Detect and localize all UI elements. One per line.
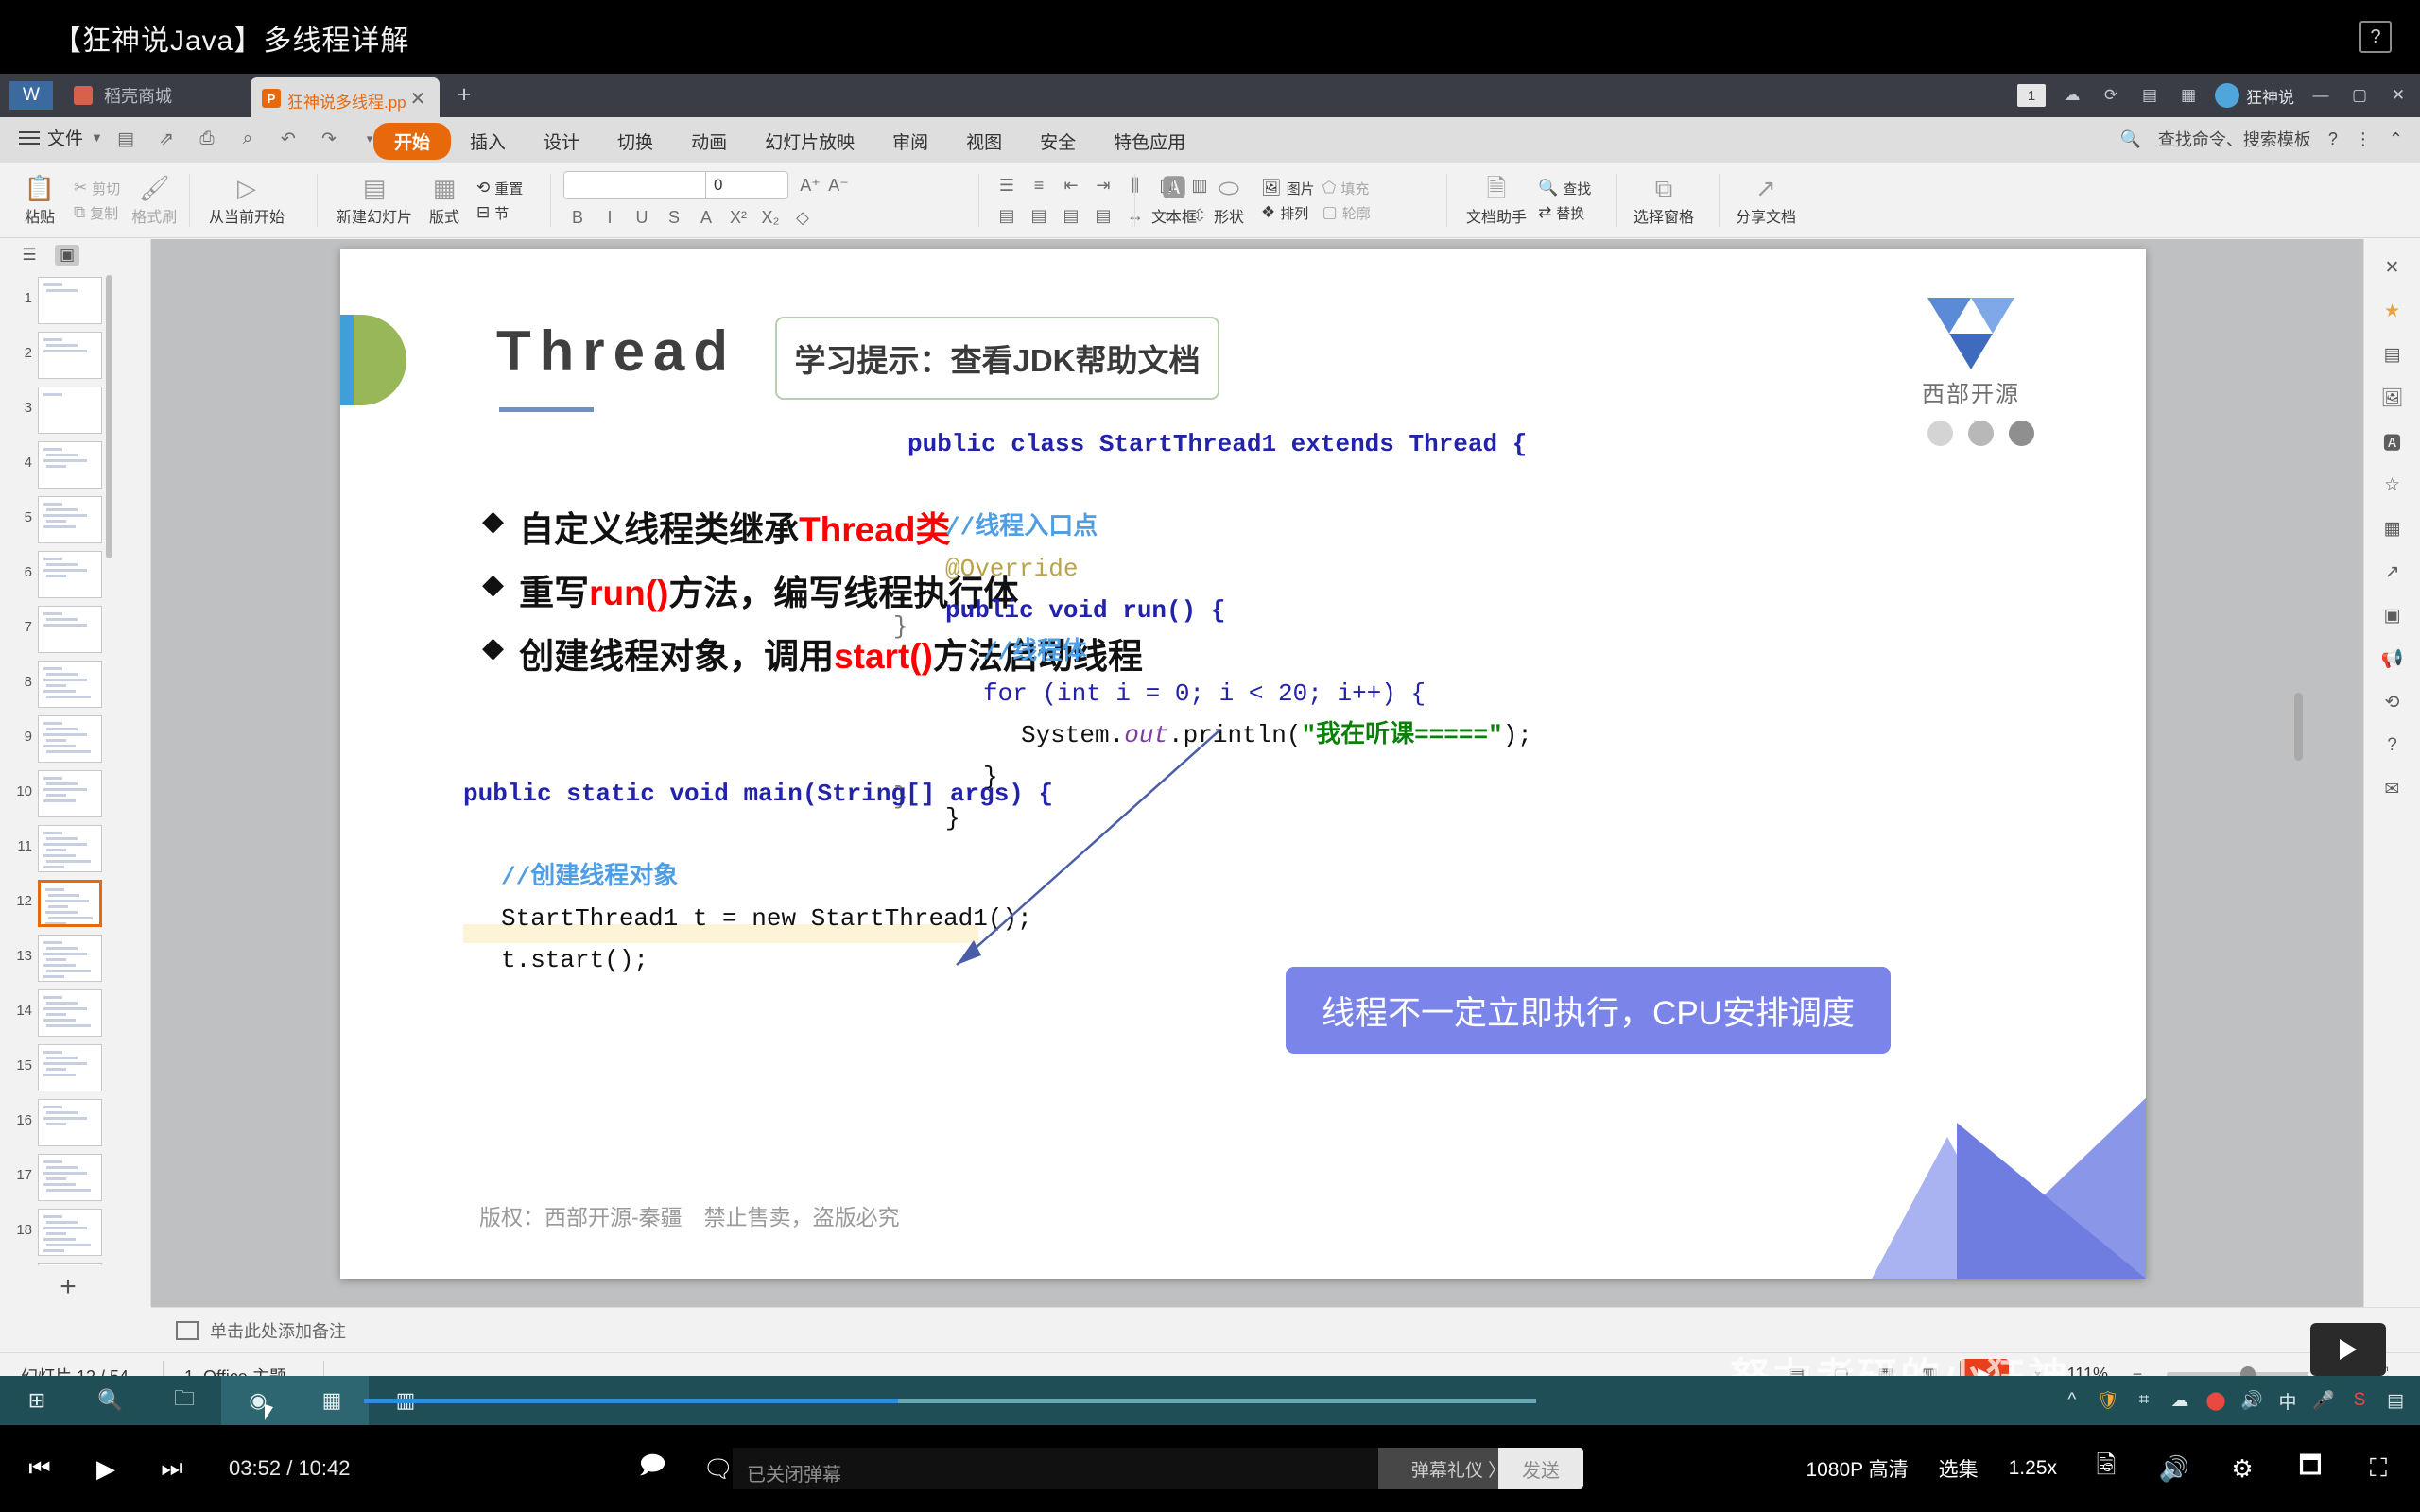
ribbon-group-tools: 🗎 文档助手 🔍 查找 ⇄ 替换	[1461, 163, 1591, 238]
gear-icon[interactable]: ⚙	[2223, 1450, 2261, 1487]
quality-selector[interactable]: 1080P 高清	[1806, 1454, 1908, 1483]
thumbnail-slide-5[interactable]: 5	[0, 492, 149, 547]
collapse-ribbon-icon[interactable]: ⌃	[2389, 129, 2403, 149]
video-title: 【狂神说Java】多线程详解	[53, 17, 409, 59]
mouse-cursor	[265, 1404, 273, 1420]
close-icon[interactable]: ✕	[406, 87, 429, 110]
thumbnail-preview	[38, 606, 102, 653]
subtitle-icon[interactable]: 🗟	[2087, 1450, 2125, 1487]
paste-icon: 📋	[25, 175, 55, 201]
hamburger-icon	[19, 130, 40, 146]
record-icon[interactable]: ⬤	[2204, 1390, 2227, 1412]
bullet-marker: ◆	[482, 564, 504, 606]
thumbnail-number: 11	[8, 838, 32, 854]
ribbon-tab-start[interactable]: 开始	[373, 123, 451, 160]
export-icon[interactable]: ↗	[2376, 557, 2410, 587]
thumbnail-number: 13	[8, 948, 32, 964]
ribbon-right-tools: 🔍 查找命令、搜索模板 ? ⋮ ⌃	[2119, 127, 2403, 151]
thumbnail-preview	[38, 989, 102, 1037]
numbered-list-icon[interactable]: ≡	[1025, 173, 1053, 198]
paste-button[interactable]: 📋 粘贴	[13, 175, 66, 227]
picture-icon: 🖼	[1261, 179, 1282, 198]
arrange-button[interactable]: ❖ 排列	[1261, 203, 1315, 223]
ribbon-group-drawing: 🅰 文本框 ⬭ 形状 🖼 图片 ❖ 排列 ⬠ 填充	[1146, 163, 1371, 238]
episodes-button[interactable]: 选集	[1939, 1454, 1979, 1483]
share-doc-label: 分享文档	[1736, 204, 1796, 227]
thumbnail-slide-4[interactable]: 4	[0, 438, 149, 492]
powerpoint-icon: P	[262, 89, 281, 108]
cut-button[interactable]: ✂ 剪切	[74, 179, 120, 198]
danmu-toggle-icon[interactable]: 🗩	[633, 1450, 671, 1487]
ribbon-tab-animation[interactable]: 动画	[672, 123, 746, 160]
thumbnail-number: 5	[8, 509, 32, 525]
star-icon[interactable]: ★	[2376, 296, 2410, 326]
thumbnail-preview	[38, 496, 102, 543]
outline-view-icon[interactable]: ☰	[17, 245, 42, 266]
fill-button[interactable]: ⬠ 填充	[1322, 179, 1371, 198]
ribbon-tab-view[interactable]: 视图	[947, 123, 1021, 160]
next-icon[interactable]: ⏭	[153, 1450, 191, 1487]
tab-right-tools: 1 ☁ ⟳ ▤ ▦ 狂神说 — ▢ ✕	[2017, 74, 2411, 117]
thumbnail-number: 12	[8, 893, 32, 909]
canvas-scrollbar[interactable]	[2294, 693, 2303, 761]
thumbnail-slide-7[interactable]: 7	[0, 602, 149, 657]
align-right-icon[interactable]: ▤	[1057, 203, 1085, 228]
align-center-icon[interactable]: ▤	[1025, 203, 1053, 228]
thumbnail-slide-19[interactable]: 19	[0, 1260, 149, 1265]
decorative-dots	[1927, 421, 2034, 446]
total-time: 10:42	[298, 1456, 350, 1480]
bullet-2-highlight: run()	[589, 574, 668, 612]
shield-icon[interactable]: 🛡	[2097, 1389, 2119, 1412]
bullet-1-text: 自定义线程类继承	[519, 510, 799, 549]
format-painter-icon: 🖌	[139, 175, 170, 201]
format-painter-label: 格式刷	[131, 204, 177, 227]
code-println-prefix: System.	[1021, 721, 1124, 749]
textbox-button[interactable]: 🅰 文本框	[1146, 175, 1202, 227]
ribbon-tab-transitions[interactable]: 切换	[598, 123, 672, 160]
folder-icon[interactable]: 🗀	[147, 1376, 221, 1425]
copy-button[interactable]: ⧉ 复制	[74, 203, 120, 223]
thumbnail-slide-18[interactable]: 18	[0, 1205, 149, 1260]
maximize-icon[interactable]: ▢	[2347, 84, 2372, 107]
align-left-icon[interactable]: ▤	[993, 203, 1021, 228]
windows-taskbar: ⊞ 🔍 🗀 ◉ ▦ ▥ ^ 🛡 ⌗ ☁ ⬤ 🔊 中 🎤 S ▤	[0, 1376, 2420, 1425]
new-slide-icon: ▤	[363, 175, 387, 201]
minimize-icon[interactable]: —	[2308, 84, 2333, 107]
underline-button[interactable]: U	[628, 205, 656, 230]
scissors-icon: ✂	[74, 179, 87, 198]
template-icon[interactable]: ▤	[2376, 339, 2410, 369]
video-control-bar: ⏮ ▶ ⏭ 03:52 / 10:42 🗩 🗨 已关闭弹幕 弹幕礼仪 〉 发送 …	[0, 1425, 2420, 1512]
font-size-input[interactable]: 0	[705, 171, 788, 199]
notes-placeholder: 单击此处添加备注	[210, 1318, 346, 1343]
tab-docer-shop[interactable]: 稻壳商城	[57, 74, 246, 117]
notification-icon[interactable]: ▤	[2384, 1390, 2407, 1412]
slide-footer: 版权：西部开源-秦疆 禁止售卖，盗版必究	[479, 1199, 900, 1231]
play-icon[interactable]: ▶	[87, 1450, 125, 1487]
outline-label: 轮廓	[1342, 203, 1371, 223]
thumbnail-scrollbar[interactable]	[106, 275, 112, 558]
find-button[interactable]: 🔍 查找	[1538, 179, 1591, 198]
thumbnail-number: 2	[8, 345, 32, 361]
thumbnail-slide-6[interactable]: 6	[0, 547, 149, 602]
reset-button[interactable]: ⟲ 重置	[476, 179, 523, 198]
thumbnail-slide-9[interactable]: 9	[0, 712, 149, 766]
code-println-out: out	[1124, 721, 1168, 749]
danmu-placeholder: 已关闭弹幕	[747, 1459, 841, 1486]
video-title-bar: 【狂神说Java】多线程详解 ?	[0, 0, 2420, 74]
code-main-new: StartThread1 t = new StartThread1();	[501, 904, 1032, 933]
logo-mark-icon	[1927, 298, 2014, 369]
add-slide-button[interactable]: +	[49, 1271, 87, 1303]
textbox-label: 文本框	[1151, 204, 1197, 227]
thumbnail-number: 17	[8, 1167, 32, 1183]
code-annotation: @Override	[945, 555, 1078, 583]
playback-speed[interactable]: 1.25x	[2009, 1457, 2057, 1480]
thumbnail-number: 7	[8, 619, 32, 635]
cloud-save-icon[interactable]: ⇗	[154, 127, 179, 151]
image-icon[interactable]: ▣	[2376, 600, 2410, 630]
thumbnail-slide-13[interactable]: 13	[0, 931, 149, 986]
file-menu-button[interactable]: 文件 ▼	[19, 125, 103, 150]
doc-assistant-button[interactable]: 🗎 文档助手	[1461, 175, 1532, 227]
bullet-2-text-a: 重写	[519, 574, 589, 612]
slide-thumbnail-pane: ☰ ▣ 12345678910111213141516171819 +	[0, 239, 151, 1307]
arrange-icon: ❖	[1261, 203, 1275, 222]
thumbnail-slide-2[interactable]: 2	[0, 328, 149, 383]
select-pane-icon: ⧉	[1655, 175, 1673, 201]
format-painter-button[interactable]: 🖌 格式刷	[126, 175, 182, 227]
thumbnail-number: 6	[8, 564, 32, 580]
slide-canvas-area: Thread 学习提示：查看JDK帮助文档 西部开源	[151, 239, 2363, 1307]
cut-label: 剪切	[92, 179, 120, 198]
volume-icon[interactable]: 🔊	[2155, 1450, 2193, 1487]
code-run-decl: public void run() {	[945, 596, 1225, 625]
picture-button[interactable]: 🖼 图片	[1261, 179, 1315, 198]
thumbnail-preview	[38, 1154, 102, 1201]
ribbon-group-font: 0 A⁺ A⁻ B I U S A X² X₂ ◇	[563, 163, 853, 238]
chevron-down-icon: ▼	[91, 130, 103, 145]
title-blue-bar	[340, 315, 354, 405]
hint-box-text: 学习提示：查看JDK帮助文档	[794, 335, 1200, 381]
chrome-icon[interactable]: ◉	[221, 1376, 295, 1425]
paste-label: 粘贴	[25, 204, 55, 227]
find-label: 查找	[1563, 179, 1591, 198]
thumbnail-number: 1	[8, 290, 32, 306]
shape-button[interactable]: ⬭ 形状	[1202, 175, 1255, 227]
slide-title: Thread	[496, 318, 736, 384]
start-from-current-label: 从当前开始	[209, 204, 285, 227]
reset-label: 重置	[494, 179, 523, 198]
more-icon[interactable]: ⋮	[2355, 129, 2372, 149]
time-separator: /	[286, 1456, 292, 1480]
thumbnail-list[interactable]: 12345678910111213141516171819	[0, 273, 149, 1265]
thumbnail-slide-15[interactable]: 15	[0, 1040, 149, 1095]
new-slide-label: 新建幻灯片	[337, 204, 412, 227]
title-green-semicircle	[354, 315, 406, 405]
bookmark-icon[interactable]: ▤	[2137, 84, 2162, 107]
thumbnail-slide-17[interactable]: 17	[0, 1150, 149, 1205]
thumbnail-preview	[38, 387, 102, 434]
thumbnail-number: 4	[8, 455, 32, 471]
textbox-icon: 🅰	[1162, 175, 1186, 201]
ribbon-tab-design[interactable]: 设计	[525, 123, 598, 160]
italic-button[interactable]: I	[596, 205, 624, 230]
code-comment-entry: //线程入口点	[945, 513, 1098, 541]
decrease-indent-icon[interactable]: ⇤	[1057, 173, 1085, 198]
subscript-button[interactable]: X₂	[756, 205, 785, 230]
font-color-button[interactable]: A	[692, 205, 720, 230]
danmu-settings-icon[interactable]: 🗨	[700, 1450, 737, 1487]
doc-assistant-label: 文档助手	[1466, 204, 1527, 227]
video-playback-controls: ⏮ ▶ ⏭ 03:52 / 10:42	[21, 1425, 351, 1512]
copy-icon: ⧉	[74, 203, 85, 222]
justify-icon[interactable]: ▤	[1089, 203, 1117, 228]
picture-library-icon[interactable]: 🖼	[2376, 383, 2410, 413]
history-icon[interactable]: ⟲	[2376, 687, 2410, 717]
decrease-font-size-icon[interactable]: A⁻	[824, 173, 853, 198]
ime-icon[interactable]: S	[2348, 1390, 2371, 1411]
save-icon[interactable]: ▤	[113, 127, 138, 151]
thumbnail-slide-11[interactable]: 11	[0, 821, 149, 876]
microphone-icon[interactable]: 🎤	[2312, 1389, 2335, 1412]
ribbon-tab-bar: 文件 ▼ ▤ ⇗ ⎙ ⌕ ↶ ↷ ▾ 开始 插入 设计 切换 动画 幻灯片放映 …	[0, 117, 2420, 163]
reset-icon: ⟲	[476, 179, 490, 198]
code-class-decl: public class StartThread1 extends Thread…	[907, 430, 1527, 458]
thumbnail-slide-14[interactable]: 14	[0, 986, 149, 1040]
thumbnail-number: 10	[8, 783, 32, 799]
ribbon-tabs: 开始 插入 设计 切换 动画 幻灯片放映 审阅 视图 安全 特色应用	[373, 123, 1204, 160]
search-icon[interactable]: 🔍	[2119, 129, 2140, 149]
new-tab-icon[interactable]: +	[452, 83, 476, 108]
cloud-icon[interactable]: ☁	[2060, 84, 2084, 107]
thumbnail-preview	[38, 661, 102, 708]
thumbnail-slide-12[interactable]: 12	[0, 876, 149, 931]
bullet-3-text-a: 创建线程对象，调用	[519, 637, 834, 676]
copy-label: 复制	[90, 203, 118, 223]
window-close-icon[interactable]: ✕	[2386, 84, 2411, 107]
ribbon-group-start-show: ▷ 从当前开始	[203, 163, 290, 238]
superscript-button[interactable]: X²	[724, 205, 752, 230]
ribbon-tab-security[interactable]: 安全	[1021, 123, 1095, 160]
thumbnail-preview	[38, 1044, 102, 1091]
video-time: 03:52 / 10:42	[229, 1456, 351, 1481]
outline-icon: ▢	[1322, 203, 1338, 222]
user-chip[interactable]: 狂神说	[2215, 83, 2294, 108]
slide-view-icon[interactable]: ▣	[55, 245, 79, 266]
print-icon[interactable]: ⎙	[195, 127, 219, 151]
thumbnail-slide-8[interactable]: 8	[0, 657, 149, 712]
video-progress-bar[interactable]	[364, 1399, 1536, 1403]
redo-icon[interactable]: ↷	[317, 127, 341, 151]
chart-icon[interactable]: ▦	[2376, 513, 2410, 543]
thumbnail-preview	[38, 880, 102, 927]
start-from-current-button[interactable]: ▷ 从当前开始	[203, 175, 290, 227]
tab-docer-shop-label: 稻壳商城	[104, 83, 172, 108]
notification-badge[interactable]: 1	[2017, 84, 2046, 107]
thumbnail-preview	[38, 1209, 102, 1256]
fullscreen-icon[interactable]: ⛶	[2359, 1450, 2397, 1487]
slide-surface[interactable]: Thread 学习提示：查看JDK帮助文档 西部开源	[340, 249, 2146, 1279]
outline-button[interactable]: ▢ 轮廓	[1322, 203, 1371, 223]
replace-button[interactable]: ⇄ 替换	[1538, 203, 1591, 223]
title-underline	[499, 407, 594, 412]
brand-logo: 西部开源	[1891, 298, 2051, 408]
video-right-controls: 1080P 高清 选集 1.25x 🗟 🔊 ⚙ 🗖 ⛶	[1806, 1425, 2397, 1512]
ribbon-group-clipboard: 📋 粘贴 ✂ 剪切 ⧉ 复制 🖌 格式刷	[13, 163, 182, 238]
thumbnail-slide-10[interactable]: 10	[0, 766, 149, 821]
start-icon[interactable]: ⊞	[0, 1376, 74, 1425]
ribbon-group-share: ↗ 分享文档	[1730, 163, 1802, 238]
clear-format-button[interactable]: ◇	[788, 205, 817, 230]
logo-text: 西部开源	[1891, 375, 2051, 408]
thumbnail-number: 8	[8, 674, 32, 690]
network-icon[interactable]: ⌗	[2133, 1390, 2155, 1411]
thumbnail-preview	[38, 332, 102, 379]
notes-bar[interactable]: 单击此处添加备注	[151, 1307, 2420, 1352]
user-name: 狂神说	[2246, 84, 2294, 108]
section-button[interactable]: ⊟ 节	[476, 203, 523, 223]
thumbnail-preview	[38, 1263, 102, 1265]
system-tray: ^ 🛡 ⌗ ☁ ⬤ 🔊 中 🎤 S ▤	[2061, 1376, 2407, 1425]
shape-icon: ⬭	[1219, 175, 1239, 201]
play-circle-icon: ▷	[237, 175, 256, 201]
feedback-icon[interactable]: ✉	[2376, 774, 2410, 804]
ime-mode-label[interactable]: 中	[2276, 1388, 2299, 1414]
bullet-marker: ◆	[482, 501, 504, 542]
ribbon-group-slides: ▤ 新建幻灯片 ▦ 版式 ⟲ 重置 ⊟ 节	[331, 163, 523, 238]
hint-box: 学习提示：查看JDK帮助文档	[775, 317, 1219, 400]
select-pane-button[interactable]: ⧉ 选择窗格	[1628, 175, 1700, 227]
code-main-start: t.start();	[501, 946, 648, 974]
code-main-comment: //创建线程对象	[501, 863, 678, 891]
code-brace-marker-a: }	[893, 612, 908, 641]
bullet-marker: ◆	[482, 627, 504, 669]
fill-icon: ⬠	[1322, 179, 1337, 198]
thumbnail-number: 3	[8, 400, 32, 416]
send-button[interactable]: 发送	[1498, 1448, 1583, 1489]
code-main-decl: public static void main(String[] args) {	[463, 780, 1053, 808]
ribbon-tab-featured-apps[interactable]: 特色应用	[1095, 123, 1204, 160]
thumbnail-number: 16	[8, 1112, 32, 1128]
thumbnail-preview	[38, 1099, 102, 1146]
layout-label: 版式	[429, 204, 459, 227]
help-circle-icon[interactable]: ?	[2376, 730, 2410, 761]
thumbnail-preview	[38, 277, 102, 324]
font-name-input[interactable]	[563, 171, 705, 199]
thumbnail-preview	[38, 935, 102, 982]
code-println-suffix: );	[1503, 721, 1532, 749]
layout-button[interactable]: ▦ 版式	[418, 175, 471, 227]
volume-icon[interactable]: 🔊	[2240, 1389, 2263, 1412]
thumbnail-slide-16[interactable]: 16	[0, 1095, 149, 1150]
increase-indent-icon[interactable]: ⇥	[1089, 173, 1117, 198]
danmu-controls: 🗩 🗨	[633, 1425, 737, 1512]
print-preview-icon[interactable]: ⌕	[235, 127, 260, 151]
sync-icon[interactable]: ⟳	[2099, 84, 2123, 107]
code-comment-body: //线程体	[983, 638, 1086, 666]
new-slide-button[interactable]: ▤ 新建幻灯片	[331, 175, 418, 227]
ribbon-body: 📋 粘贴 ✂ 剪切 ⧉ 复制 🖌 格式刷 ▷ 从	[0, 163, 2420, 238]
favorite-icon[interactable]: ☆	[2376, 470, 2410, 500]
file-menu-label: 文件	[47, 125, 83, 150]
thumbnail-preview	[38, 770, 102, 817]
code-println-string: "我在听课====="	[1301, 721, 1502, 749]
replace-icon: ⇄	[1538, 203, 1551, 222]
ribbon-tab-review[interactable]: 审阅	[873, 123, 947, 160]
grid-icon[interactable]: ▦	[2176, 84, 2201, 107]
share-icon: ↗	[1755, 175, 1776, 201]
video-mini-preview[interactable]	[2310, 1323, 2386, 1376]
help-icon[interactable]: ?	[2359, 21, 2392, 53]
right-sidebar: ✕ ★ ▤ 🖼 🅰 ☆ ▦ ↗ ▣ 📢 ⟲ ? ✉	[2363, 239, 2420, 1307]
section-label: 节	[494, 203, 509, 223]
wps-office-window: W 稻壳商城 P 狂神说多线程.pptx ✕ + 1 ☁ ⟳ ▤ ▦ 狂神说 —…	[0, 74, 2420, 1376]
share-doc-button[interactable]: ↗ 分享文档	[1730, 175, 1802, 227]
tab-presentation[interactable]: P 狂神说多线程.pptx ✕	[251, 77, 440, 117]
section-icon: ⊟	[476, 203, 490, 222]
wps-taskbar-icon[interactable]: ▦	[295, 1376, 369, 1425]
tab-strip: W 稻壳商城 P 狂神说多线程.pptx ✕ + 1 ☁ ⟳ ▤ ▦ 狂神说 —…	[0, 74, 2420, 117]
shape-label: 形状	[1214, 204, 1244, 227]
replace-label: 替换	[1556, 203, 1584, 223]
doc-assistant-icon: 🗎	[1487, 175, 1507, 201]
megaphone-icon[interactable]: 📢	[2376, 644, 2410, 674]
text-style-icon[interactable]: 🅰	[2376, 426, 2410, 456]
thumbnail-preview	[38, 715, 102, 763]
increase-font-size-icon[interactable]: A⁺	[796, 173, 824, 198]
thumbnail-slide-1[interactable]: 1	[0, 273, 149, 328]
code-println-mid: .println(	[1168, 721, 1301, 749]
avatar	[2215, 83, 2239, 108]
ribbon-group-select-pane: ⧉ 选择窗格	[1628, 163, 1700, 238]
code-block-main: public static void main(String[] args) {…	[463, 773, 1053, 981]
thumbnail-preview	[38, 441, 102, 489]
bullet-list-icon[interactable]: ☰	[993, 173, 1021, 198]
ribbon-tab-slideshow[interactable]: 幻灯片放映	[746, 123, 873, 160]
tray-expand-icon[interactable]: ^	[2061, 1390, 2083, 1411]
fill-label: 填充	[1340, 179, 1369, 198]
bold-button[interactable]: B	[563, 205, 592, 230]
prev-icon[interactable]: ⏮	[21, 1450, 59, 1487]
thumbnail-number: 14	[8, 1003, 32, 1019]
cloud-icon[interactable]: ☁	[2169, 1390, 2191, 1412]
picture-in-picture-icon[interactable]: 🗖	[2291, 1450, 2329, 1487]
thumbnail-slide-3[interactable]: 3	[0, 383, 149, 438]
search-icon: 🔍	[1538, 179, 1558, 198]
thumbnail-toolbar: ☰ ▣	[0, 239, 151, 271]
quick-access-toolbar: ▤ ⇗ ⎙ ⌕ ↶ ↷ ▾	[113, 127, 382, 151]
close-pane-icon[interactable]: ✕	[2376, 252, 2410, 283]
search-icon[interactable]: 🔍	[74, 1376, 147, 1425]
current-time: 03:52	[229, 1456, 281, 1480]
layout-icon: ▦	[433, 175, 457, 201]
thumbnail-number: 9	[8, 729, 32, 745]
ribbon-tab-insert[interactable]: 插入	[451, 123, 525, 160]
search-input[interactable]: 查找命令、搜索模板	[2158, 127, 2311, 151]
wps-logo-icon: W	[9, 81, 53, 110]
strikethrough-button[interactable]: S	[660, 205, 688, 230]
select-pane-label: 选择窗格	[1633, 204, 1694, 227]
thumbnail-preview	[38, 551, 102, 598]
help-icon[interactable]: ?	[2328, 129, 2338, 149]
notes-icon	[176, 1321, 199, 1340]
thumbnail-number: 18	[8, 1222, 32, 1238]
tab-presentation-label: 狂神说多线程.pptx	[287, 89, 406, 112]
undo-icon[interactable]: ↶	[276, 127, 301, 151]
picture-label: 图片	[1287, 179, 1315, 198]
